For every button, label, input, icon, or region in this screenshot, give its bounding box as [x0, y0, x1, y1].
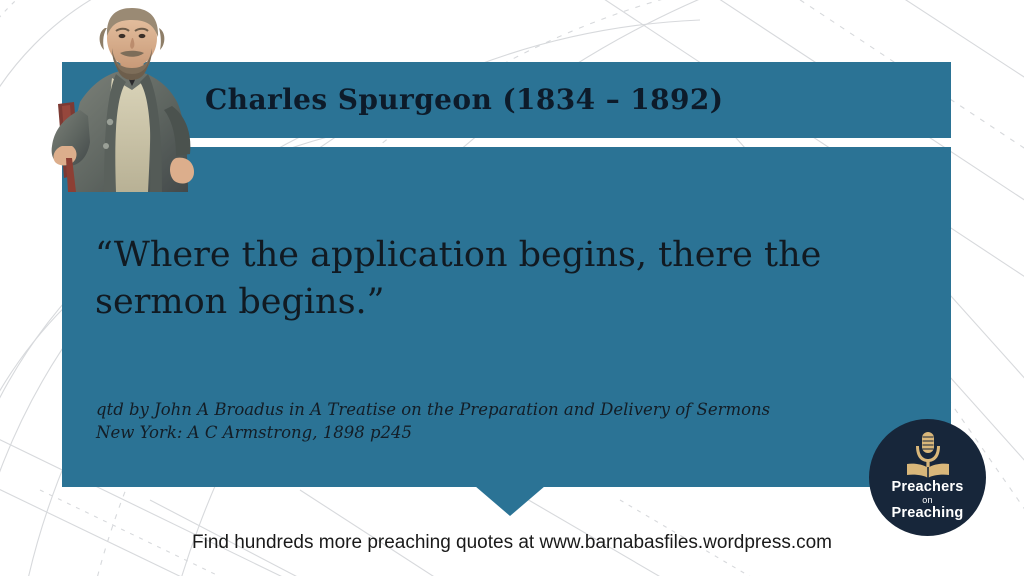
speech-bubble-tail [475, 486, 545, 516]
logo-line-preachers: Preachers [869, 479, 986, 495]
spurgeon-portrait [36, 6, 212, 192]
microphone-over-open-book-icon [899, 430, 957, 478]
preachers-on-preaching-logo[interactable]: Preachers on Preaching [869, 419, 986, 536]
quote-slide: Charles Spurgeon (1834 – 1892) “Where th… [0, 0, 1024, 576]
quote-attribution: qtd by John A Broadus in A Treatise on t… [96, 398, 886, 444]
page-title: Charles Spurgeon (1834 – 1892) [205, 83, 723, 116]
logo-line-on: on [869, 495, 986, 505]
logo-wordmark: Preachers on Preaching [869, 479, 986, 522]
logo-line-preaching: Preaching [869, 505, 986, 521]
footer-text: Find hundreds more preaching quotes at w… [0, 532, 1024, 554]
quote-text: “Where the application begins, there the… [95, 232, 895, 326]
